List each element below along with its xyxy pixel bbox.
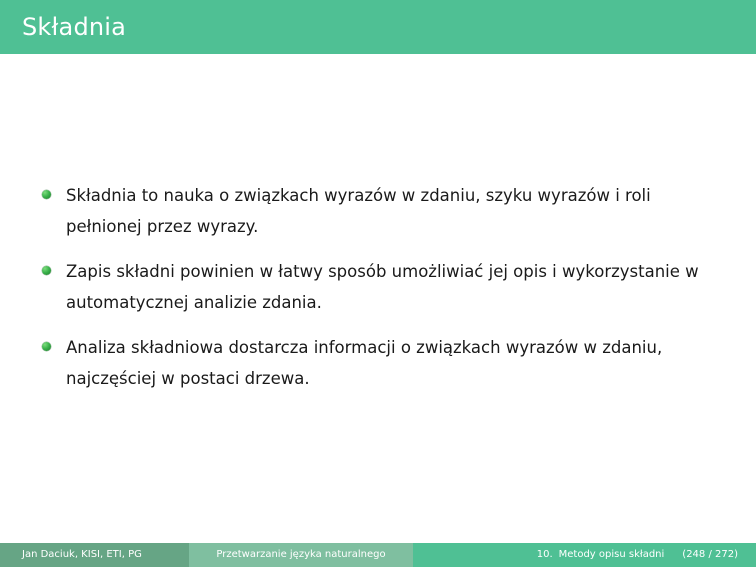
list-item: Zapis składni powinien w łatwy sposób um… (0, 256, 756, 318)
green-sphere-bullet-icon (42, 190, 51, 199)
slide-content: Składnia to nauka o związkach wyrazów w … (0, 180, 756, 394)
list-item: Składnia to nauka o związkach wyrazów w … (0, 180, 756, 242)
list-item-text: Analiza składniowa dostarcza informacji … (66, 332, 716, 394)
footer-section-info: 10. Metody opisu składni (248 / 272) (413, 543, 756, 567)
footer-author: Jan Daciuk, KISI, ETI, PG (0, 543, 189, 567)
footer-section-number: 10. (537, 543, 553, 567)
list-item-text: Składnia to nauka o związkach wyrazów w … (66, 180, 716, 242)
green-sphere-bullet-icon (42, 342, 51, 351)
slide-footer-bar: Jan Daciuk, KISI, ETI, PG Przetwarzanie … (0, 543, 756, 567)
footer-subject: Przetwarzanie języka naturalnego (189, 543, 413, 567)
green-sphere-bullet-icon (42, 266, 51, 275)
footer-section-name: Metody opisu składni (559, 543, 665, 567)
list-item-text: Zapis składni powinien w łatwy sposób um… (66, 256, 716, 318)
footer-page-counter: (248 / 272) (682, 543, 738, 567)
list-item: Analiza składniowa dostarcza informacji … (0, 332, 756, 394)
slide-header-bar: Składnia (0, 0, 756, 54)
presentation-slide: Składnia Składnia to nauka o związkach w… (0, 0, 756, 567)
page-title: Składnia (22, 12, 126, 42)
